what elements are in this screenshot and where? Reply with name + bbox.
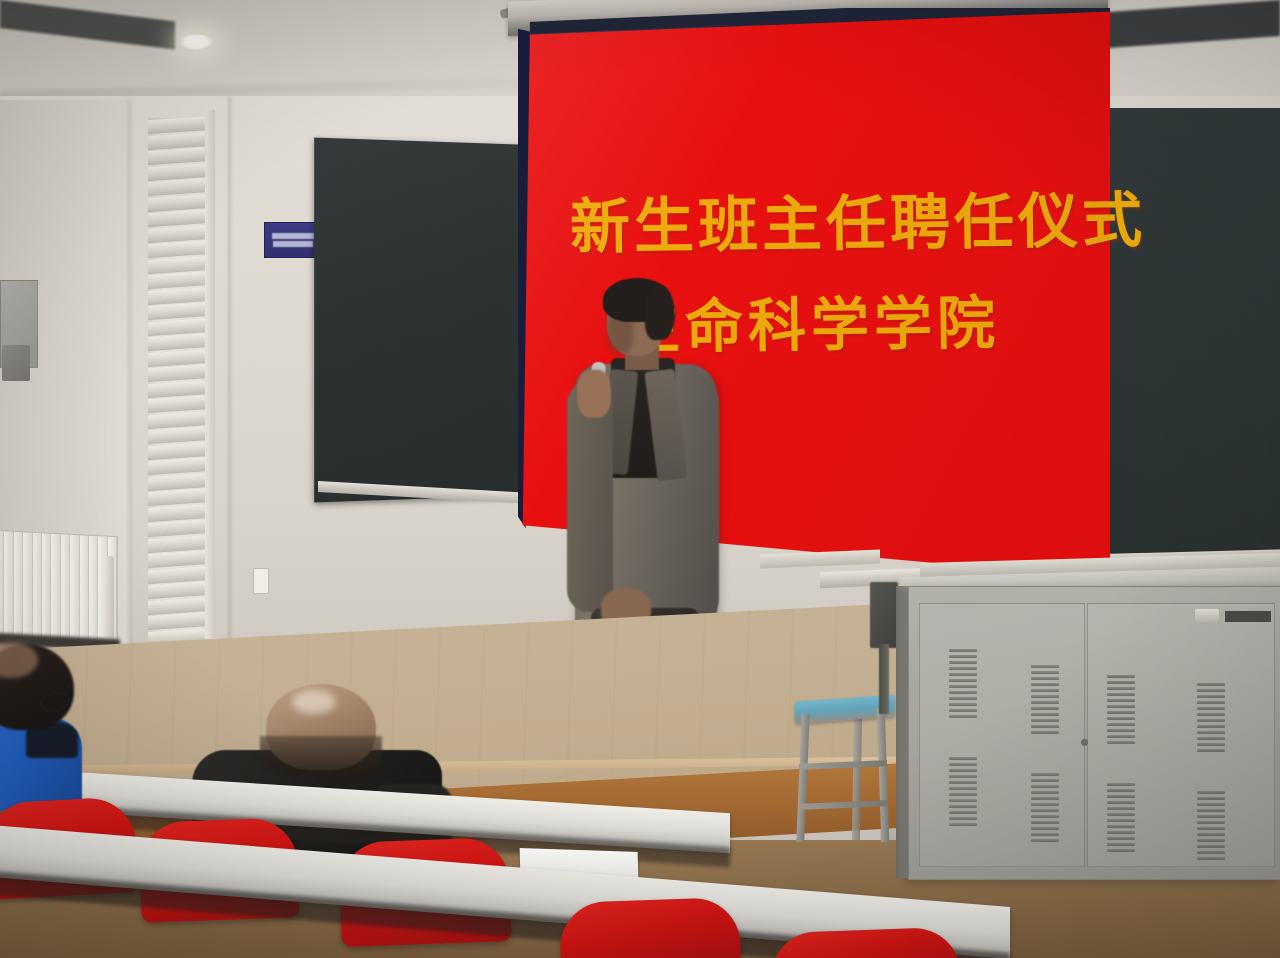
louver-panel-frame [205, 110, 215, 650]
room-sign-text-line-1 [272, 233, 314, 239]
equipment-cabinet [908, 586, 1280, 880]
louver-slat [148, 178, 210, 196]
louver-slat [148, 364, 210, 382]
stool-crossbar-lower [799, 800, 887, 810]
wall-louver-panel [148, 118, 210, 643]
louver-slat [148, 209, 210, 227]
control-box-pole [879, 644, 889, 714]
louver-slat [148, 426, 210, 444]
light-switch[interactable] [253, 568, 269, 594]
radiator-fin [80, 535, 89, 645]
cabinet-vent-louver [1197, 791, 1225, 860]
stool-crossbar-upper [799, 760, 887, 770]
louver-slat [148, 271, 210, 289]
audience-member-blue-jacket [0, 640, 112, 820]
lecture-hall-photo: 新生班主任聘任仪式 生命科学学院 [0, 0, 1280, 958]
cabinet-vent-louver [949, 757, 977, 826]
louver-slat [148, 488, 210, 506]
louver-slat [148, 581, 210, 599]
wall-seam [228, 96, 231, 656]
radiator-fin [89, 536, 98, 646]
louver-slat [148, 116, 210, 134]
wall-box-handle[interactable] [2, 345, 30, 381]
louver-slat [148, 395, 210, 413]
radiator-fin [61, 534, 70, 644]
cabinet-vent-louver [1031, 665, 1059, 734]
cabinet-vent-louver [1107, 783, 1135, 852]
radiator-fin [42, 533, 51, 643]
louver-slat [148, 612, 210, 630]
audience-2-head-highlight [292, 690, 336, 714]
louver-slat [148, 519, 210, 537]
cabinet-vent-louver [1107, 675, 1135, 744]
speaker-hair-side [645, 284, 675, 340]
cabinet-latch[interactable] [1195, 609, 1219, 622]
stool-leg-back [852, 714, 862, 840]
stool-leg-right [877, 708, 890, 842]
metal-stool [795, 698, 895, 850]
room-sign-text-line-2 [273, 241, 313, 247]
radiator-fin [14, 532, 23, 642]
louver-slat [148, 302, 210, 320]
louver-slat [148, 147, 210, 165]
louver-slat [148, 333, 210, 351]
stool-leg-left [796, 714, 810, 842]
radiator-fin [23, 532, 32, 642]
wall-radiator [0, 530, 118, 648]
speaker-hand-holding-mic [577, 370, 611, 418]
wall-seam-secondary [128, 100, 131, 660]
cabinet-door-left[interactable] [919, 603, 1085, 867]
ceiling-downlight-icon [178, 34, 214, 51]
radiator-fin [33, 533, 42, 643]
cabinet-door-knob[interactable] [1081, 739, 1088, 746]
radiator-fin [4, 531, 13, 641]
louver-slat [148, 457, 210, 475]
auditorium-seat[interactable] [559, 897, 741, 958]
cabinet-vent-louver [1031, 773, 1059, 842]
cabinet-vent-louver [949, 649, 977, 718]
cabinet-vent-louver [1197, 683, 1225, 752]
audience-2-hair [260, 736, 382, 776]
louver-slat [148, 240, 210, 258]
cabinet-label-plate [1225, 611, 1271, 622]
louver-slat [148, 550, 210, 568]
radiator-fin [51, 534, 60, 644]
radiator-fin [70, 535, 79, 645]
wall-mounted-control-box [870, 582, 898, 648]
blackboard-right [1082, 108, 1280, 558]
slide-title-line: 新生班主任聘任仪式 [570, 191, 1041, 260]
